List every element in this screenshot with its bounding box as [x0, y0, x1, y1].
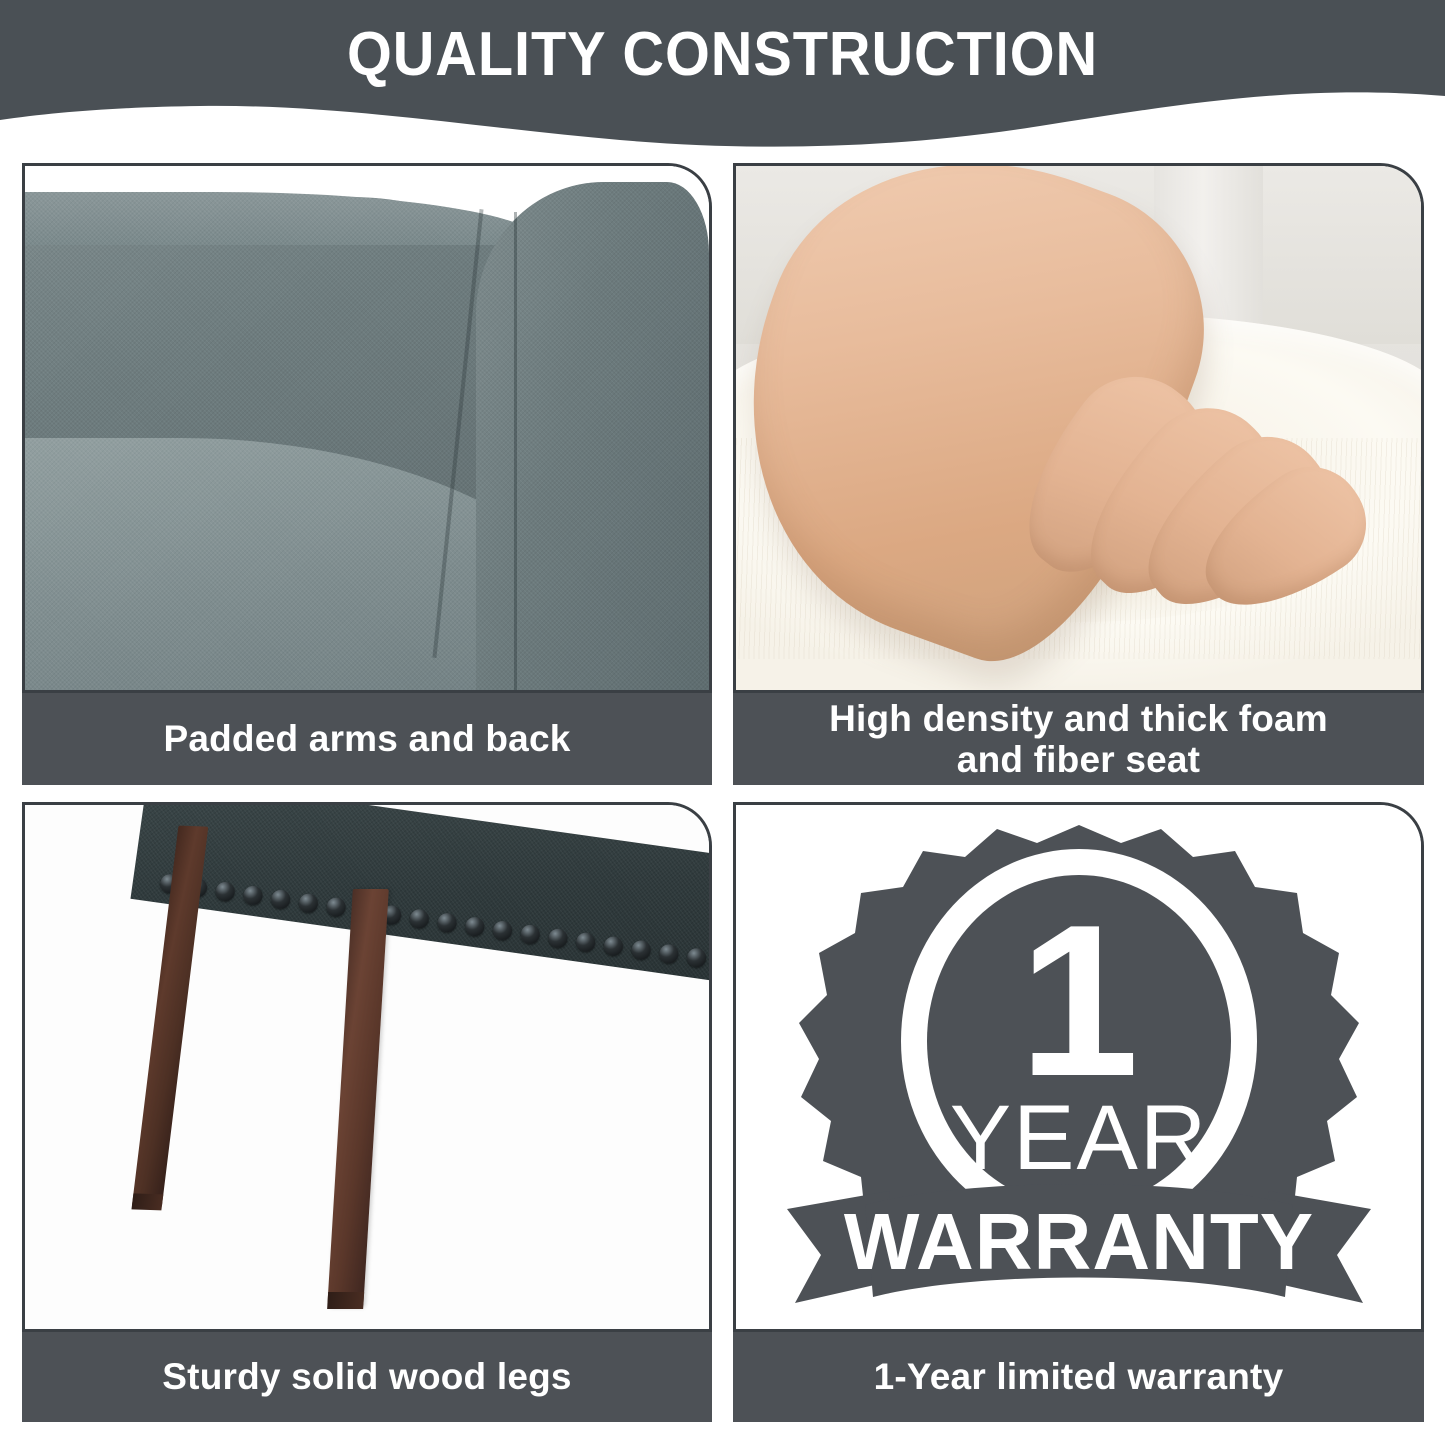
nailhead-stud	[658, 942, 679, 963]
badge-years-value: 1	[1018, 879, 1138, 1121]
leg-foot	[131, 1194, 163, 1210]
nailhead-stud	[519, 923, 540, 944]
caption-warranty: 1-Year limited warranty	[733, 1332, 1424, 1422]
badge-period-label: YEAR	[949, 1087, 1208, 1189]
caption-text-prefix: 1	[874, 1356, 895, 1397]
caption-text-line-2: and fiber seat	[957, 739, 1200, 780]
wood-legs-illustration	[25, 805, 709, 1329]
nailhead-stud	[547, 927, 568, 948]
warranty-badge-illustration: 1 YEAR WARRANTY	[736, 805, 1421, 1329]
nailhead-stud	[298, 891, 319, 912]
nailhead-stud	[575, 930, 596, 951]
nailhead-stud	[242, 884, 263, 905]
caption-padded-arms: Padded arms and back	[22, 693, 712, 785]
warranty-seal-icon: 1 YEAR WARRANTY	[769, 817, 1389, 1317]
leg-foot	[327, 1292, 364, 1309]
caption-foam-seat: High density and thick foam and fiber se…	[733, 693, 1424, 785]
photo-warranty-badge: 1 YEAR WARRANTY	[733, 802, 1424, 1332]
feature-panel-warranty: 1 YEAR WARRANTY 1-Year limited warranty	[733, 802, 1424, 1422]
caption-text: Padded arms and back	[163, 718, 570, 759]
nailhead-stud	[492, 919, 513, 940]
caption-text: Sturdy solid wood legs	[162, 1356, 571, 1397]
feature-panel-wood-legs: Sturdy solid wood legs	[22, 802, 712, 1422]
nailhead-stud	[603, 934, 624, 955]
photo-wood-legs	[22, 802, 712, 1332]
photo-padded-arms	[22, 163, 712, 693]
nailhead-stud	[270, 888, 291, 909]
caption-text-line-1: High density and thick foam	[829, 698, 1328, 739]
hand-on-foam-illustration	[736, 166, 1421, 690]
photo-foam-seat	[733, 163, 1424, 693]
nailhead-stud	[630, 938, 651, 959]
fabric-texture-overlay	[25, 166, 709, 690]
nailhead-stud	[686, 946, 707, 967]
nailhead-stud	[464, 915, 485, 936]
feature-panel-padded-arms: Padded arms and back	[22, 163, 712, 785]
caption-wood-legs: Sturdy solid wood legs	[22, 1332, 712, 1422]
nailhead-stud	[325, 895, 346, 916]
badge-ribbon-label: WARRANTY	[843, 1197, 1313, 1286]
chair-leg-front	[327, 889, 388, 1308]
nailhead-stud	[408, 907, 429, 928]
nailhead-stud	[436, 911, 457, 932]
caption-text-rest: -Year limited warranty	[894, 1356, 1283, 1397]
header-band: QUALITY CONSTRUCTION	[0, 0, 1445, 150]
page-title: QUALITY CONSTRUCTION	[51, 22, 1395, 87]
nailhead-stud	[214, 880, 235, 901]
feature-panel-foam-seat: High density and thick foam and fiber se…	[733, 163, 1424, 785]
chair-arm-illustration	[25, 166, 709, 690]
